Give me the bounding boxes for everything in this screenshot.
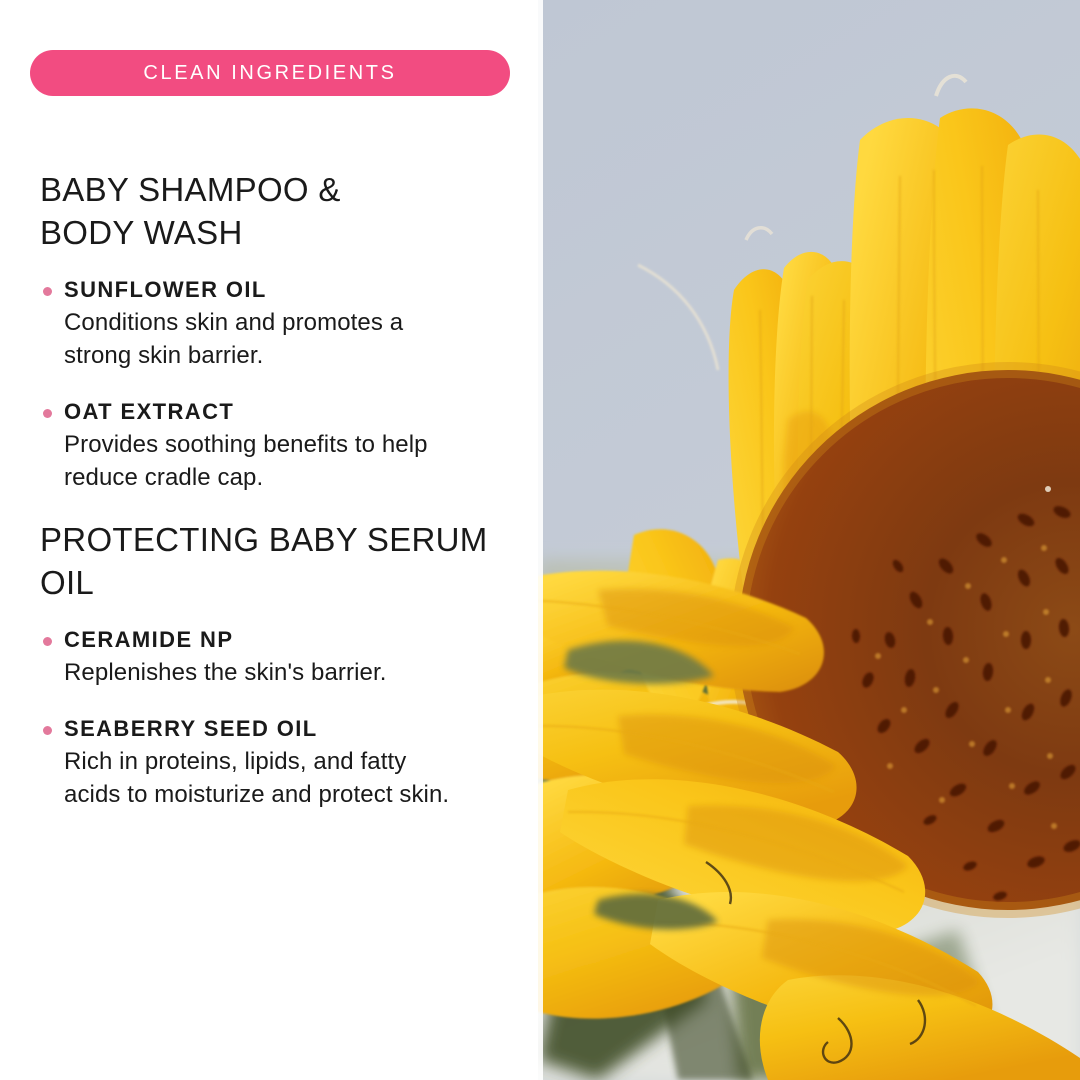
bullet-dot-icon xyxy=(43,637,52,646)
section-title-line-1: BABY SHAMPOO & xyxy=(40,171,341,208)
section-title-line-2: OIL xyxy=(40,564,94,601)
ingredient-description: Provides soothing benefits to help reduc… xyxy=(64,428,510,494)
bullet-dot-icon xyxy=(43,726,52,735)
list-item: CERAMIDE NP Replenishes the skin's barri… xyxy=(40,626,510,689)
ingredient-description-line-2: strong skin barrier. xyxy=(64,342,263,369)
section-title: PROTECTING BABY SERUM OIL xyxy=(40,518,510,604)
ingredient-description-line-1: Provides soothing benefits to help xyxy=(64,431,428,458)
ingredient-list: CERAMIDE NP Replenishes the skin's barri… xyxy=(40,626,510,811)
ingredients-infographic: CLEAN INGREDIENTS BABY SHAMPOO & BODY WA… xyxy=(0,0,1080,1080)
clean-ingredients-badge: CLEAN INGREDIENTS xyxy=(30,50,510,96)
ingredient-description-line-2: acids to moisturize and protect skin. xyxy=(64,781,449,808)
ingredient-name: OAT EXTRACT xyxy=(64,398,510,426)
ingredient-description-line-1: Conditions skin and promotes a xyxy=(64,309,403,336)
section-title-line-2: BODY WASH xyxy=(40,214,243,251)
list-item: SEABERRY SEED OIL Rich in proteins, lipi… xyxy=(40,715,510,811)
ingredient-name: CERAMIDE NP xyxy=(64,626,510,654)
ingredient-list: SUNFLOWER OIL Conditions skin and promot… xyxy=(40,276,510,494)
ingredient-name: SUNFLOWER OIL xyxy=(64,276,510,304)
ingredient-name: SEABERRY SEED OIL xyxy=(64,715,510,743)
text-panel: CLEAN INGREDIENTS BABY SHAMPOO & BODY WA… xyxy=(0,0,538,1080)
list-item: OAT EXTRACT Provides soothing benefits t… xyxy=(40,398,510,494)
ingredient-description: Replenishes the skin's barrier. xyxy=(64,656,510,689)
list-item: SUNFLOWER OIL Conditions skin and promot… xyxy=(40,276,510,372)
product-section-baby-shampoo-body-wash: BABY SHAMPOO & BODY WASH SUNFLOWER OIL C… xyxy=(40,168,510,494)
ingredient-description: Conditions skin and promotes a strong sk… xyxy=(64,306,510,372)
section-title: BABY SHAMPOO & BODY WASH xyxy=(40,168,510,254)
ingredients-content: BABY SHAMPOO & BODY WASH SUNFLOWER OIL C… xyxy=(40,168,510,811)
badge-label: CLEAN INGREDIENTS xyxy=(143,63,396,83)
ingredient-description-line-1: Replenishes the skin's barrier. xyxy=(64,659,387,686)
ingredient-description-line-1: Rich in proteins, lipids, and fatty xyxy=(64,748,406,775)
sunflower-photo xyxy=(538,0,1080,1080)
product-section-protecting-baby-serum-oil: PROTECTING BABY SERUM OIL CERAMIDE NP Re… xyxy=(40,518,510,811)
sunflower-illustration xyxy=(538,0,1080,1080)
section-title-line-1: PROTECTING BABY SERUM xyxy=(40,521,488,558)
bullet-dot-icon xyxy=(43,409,52,418)
ingredient-description: Rich in proteins, lipids, and fatty acid… xyxy=(64,745,510,811)
bullet-dot-icon xyxy=(43,287,52,296)
ingredient-description-line-2: reduce cradle cap. xyxy=(64,464,263,491)
